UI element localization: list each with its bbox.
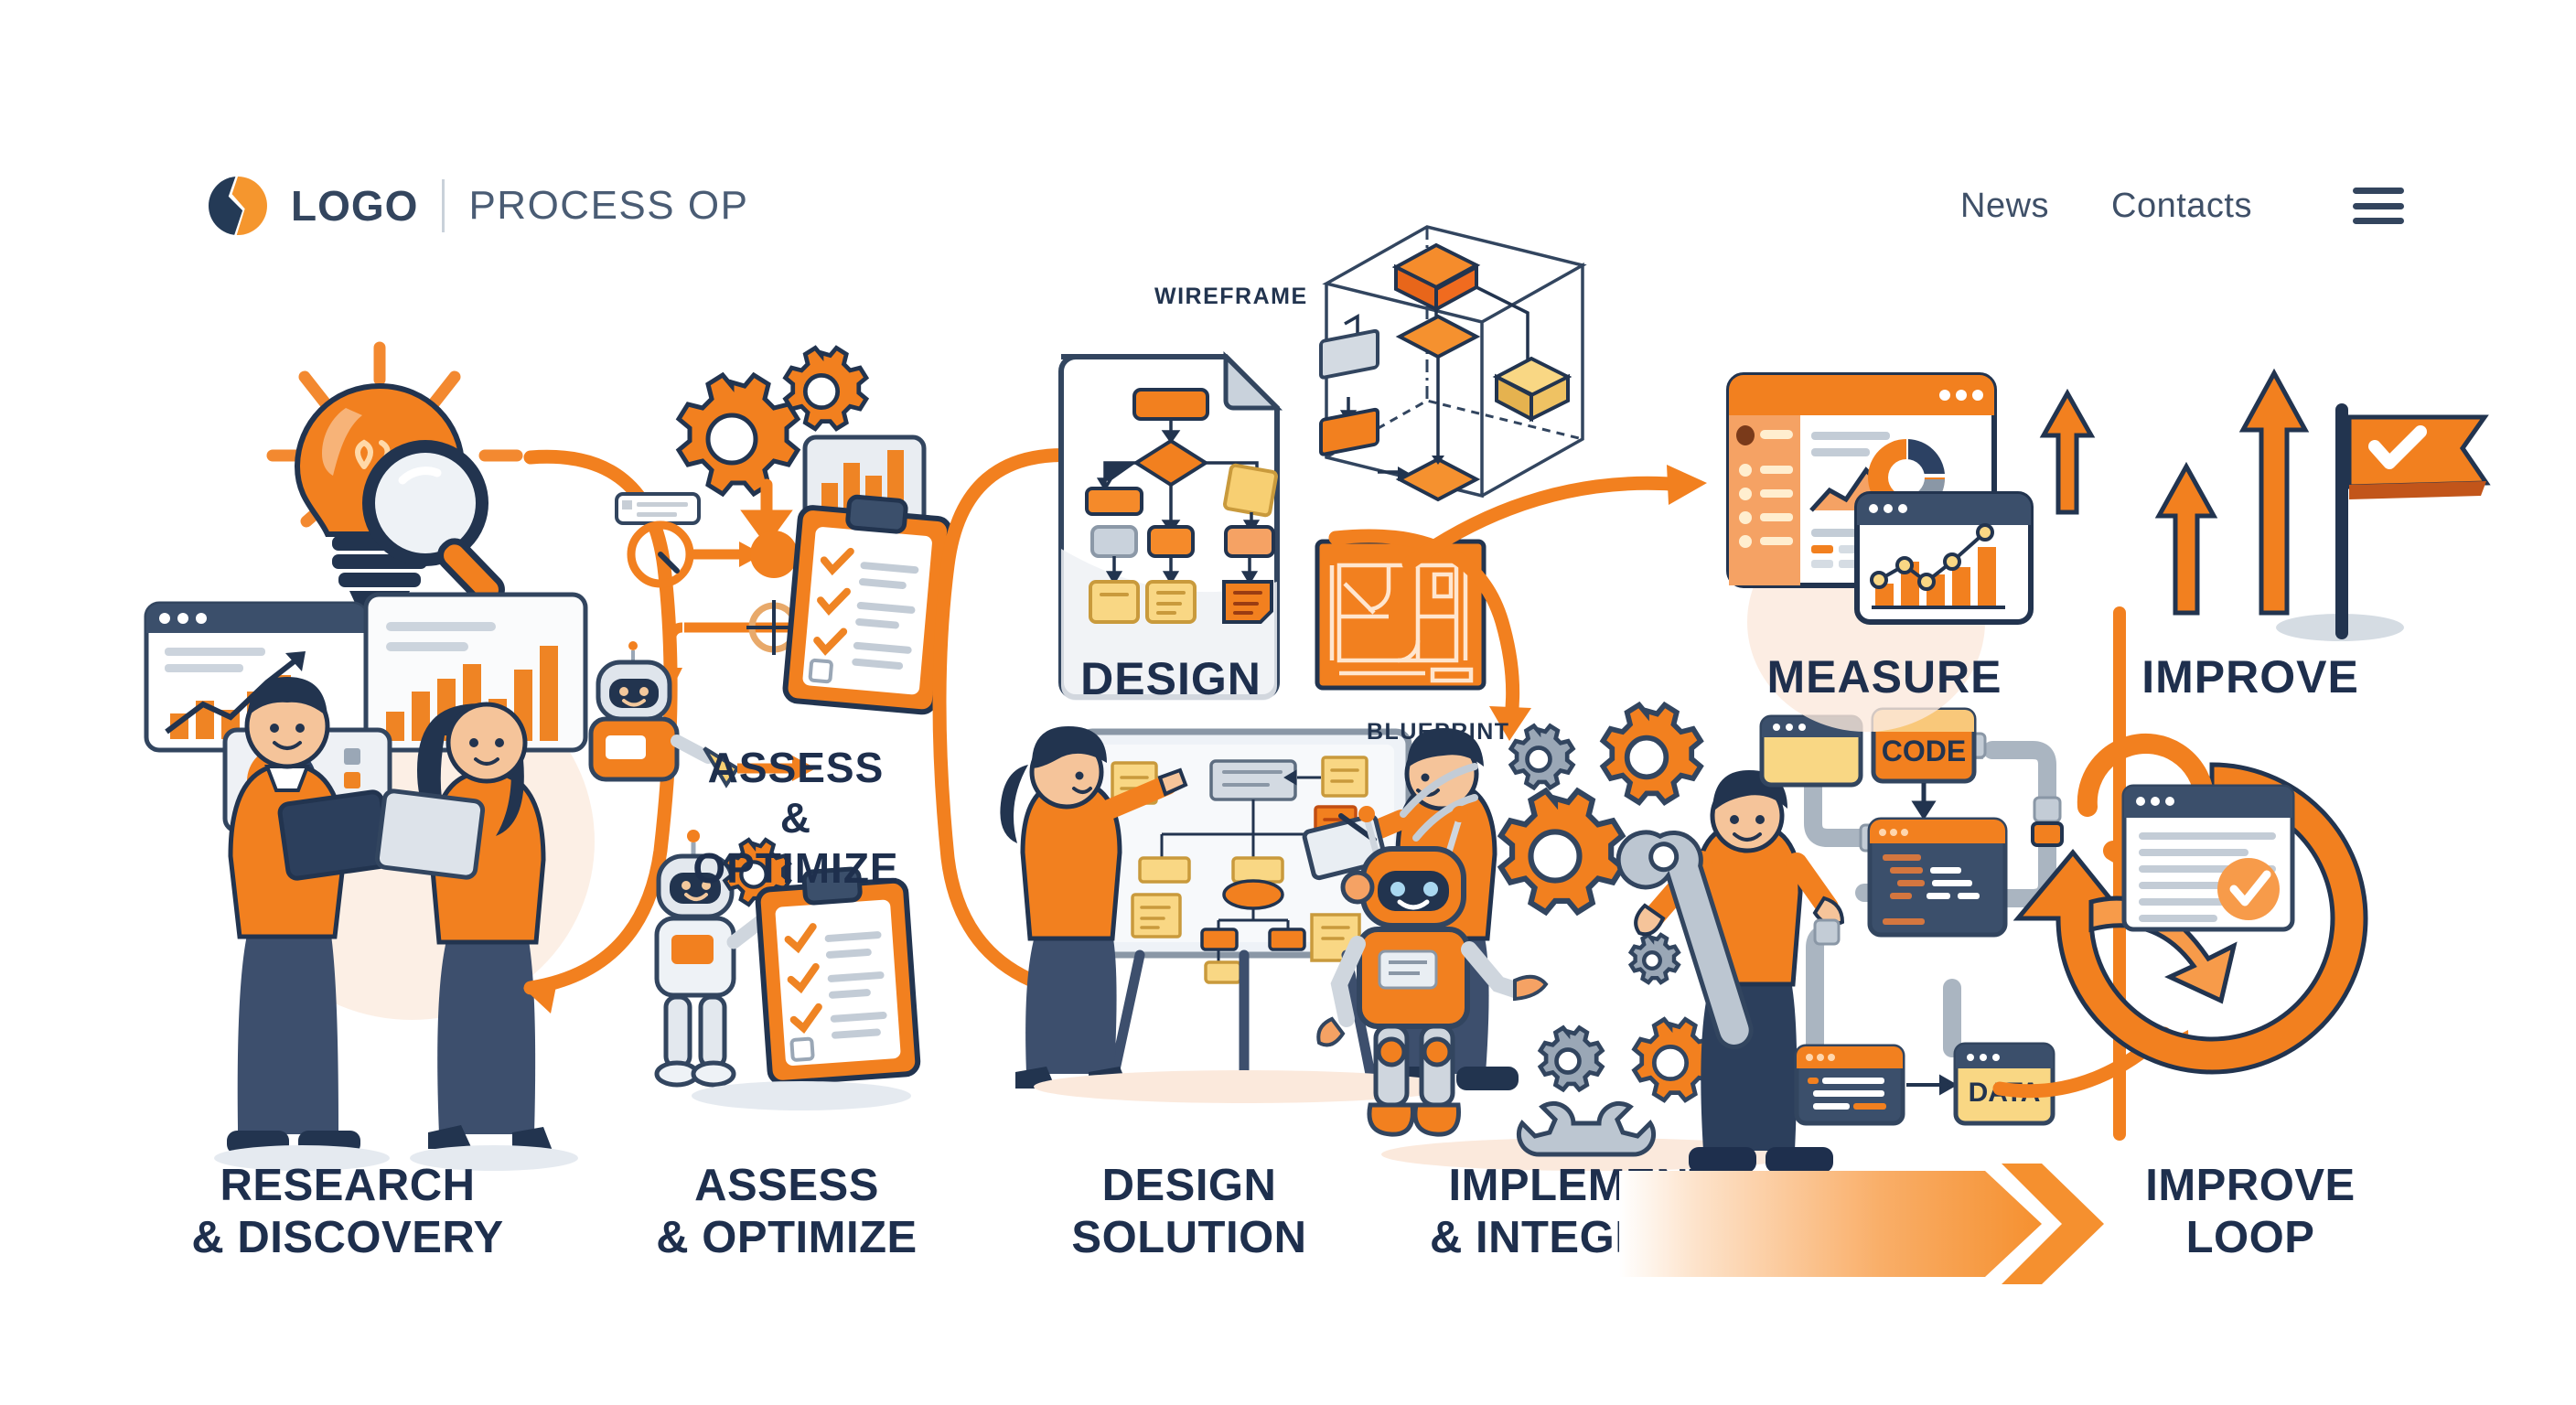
inline-heading-measure-line1: MEASURE: [1738, 649, 2031, 704]
inline-heading-assess-line2: & OPTIMIZE: [677, 793, 915, 894]
logo-text: LOGO: [291, 181, 418, 231]
progress-chevron-arrow: [1619, 1164, 2113, 1284]
inline-heading-design: DESIGN: [1043, 651, 1299, 706]
label-blueprint: BLUEPRINT: [1367, 719, 1510, 745]
brand-block: LOGO PROCESS OP: [209, 156, 748, 256]
inline-heading-measure: MEASURE: [1738, 649, 2031, 704]
stage-label-improve: IMPROVE LOOP: [2058, 1160, 2442, 1264]
inline-heading-improve-line1: IMPROVE: [2104, 649, 2397, 704]
label-wireframe: WIREFRAME: [1154, 284, 1308, 310]
stage-label-assess: ASSESS & OPTIMIZE: [604, 1160, 970, 1264]
stage-label-design-line1: DESIGN: [988, 1160, 1390, 1212]
stage-label-assess-line2: & OPTIMIZE: [604, 1212, 970, 1264]
stage-label-improve-line1: IMPROVE: [2058, 1160, 2442, 1212]
code-label-text: CODE: [1882, 735, 1966, 767]
improve-loop-arrows: [1994, 750, 2433, 1116]
inline-heading-improve: IMPROVE: [2104, 649, 2397, 704]
inline-heading-assess-line1: ASSESS: [677, 743, 915, 793]
stage-label-research: RESEARCH & DISCOVERY: [165, 1160, 531, 1264]
brand-subtitle: PROCESS OP: [468, 183, 748, 229]
connector-arrow-4: [1400, 457, 1729, 585]
stage-label-design-line2: SOLUTION: [988, 1212, 1390, 1264]
stage-label-row: RESEARCH & DISCOVERY ASSESS & OPTIMIZE D…: [0, 1160, 2576, 1306]
stage-label-design: DESIGN SOLUTION: [988, 1160, 1390, 1264]
inline-heading-assess: ASSESS & OPTIMIZE: [677, 743, 915, 895]
stage-label-research-line1: RESEARCH: [165, 1160, 531, 1212]
stage-label-research-line2: & DISCOVERY: [165, 1212, 531, 1264]
stage-label-assess-line1: ASSESS: [604, 1160, 970, 1212]
stage-label-improve-line2: LOOP: [2058, 1212, 2442, 1264]
page-header: LOGO PROCESS OP News Contacts: [0, 156, 2576, 256]
nav-item-contacts[interactable]: Contacts: [2111, 187, 2252, 226]
inline-heading-design-line1: DESIGN: [1043, 651, 1299, 706]
brand-divider: [442, 179, 445, 232]
logo-icon[interactable]: [209, 177, 267, 235]
main-nav: News Contacts: [1960, 156, 2404, 256]
nav-item-news[interactable]: News: [1960, 187, 2049, 226]
hamburger-menu-icon[interactable]: [2353, 188, 2404, 224]
